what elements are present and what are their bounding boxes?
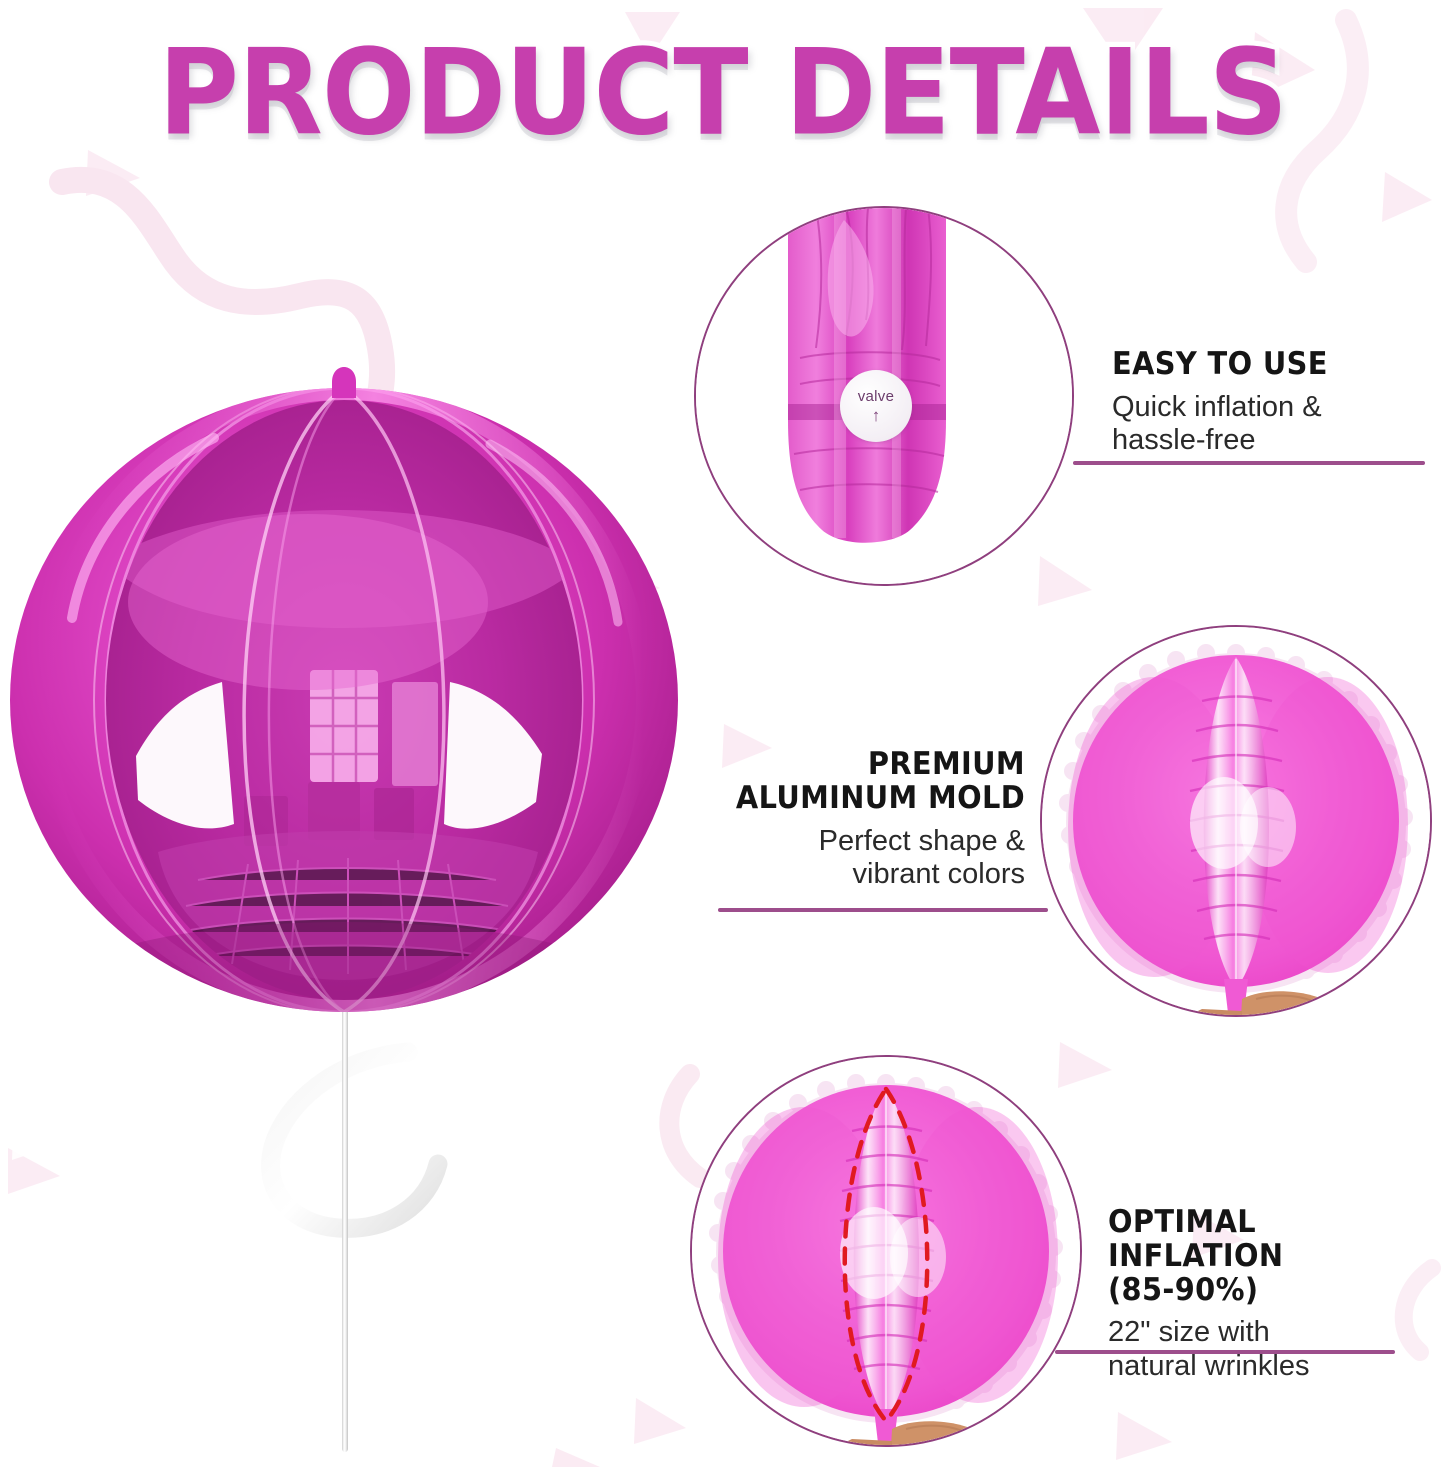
triangle-icon [1382, 172, 1432, 222]
hero-balloon [8, 352, 680, 1462]
feature-body-line: vibrant colors [853, 858, 1025, 890]
balloon-orb [8, 352, 680, 1042]
feature-body-line: Perfect shape & [819, 825, 1025, 857]
callout-uninflated-balloon [1040, 625, 1432, 1017]
page-title-wrap: PRODUCT DETAILS [0, 34, 1445, 140]
triangle-icon [1038, 556, 1092, 606]
reflection-glow [128, 514, 488, 690]
feature-rule-easy-to-use [1073, 461, 1425, 465]
feature-text-premium-aluminum-mold: PREMIUM ALUMINUM MOLD Perfect shape & vi… [695, 748, 1025, 892]
callout-valve-closeup: valve ↑ [694, 206, 1074, 586]
specular-highlight [890, 1217, 946, 1297]
feature-heading-line: PREMIUM [868, 746, 1025, 782]
feature-heading-line: ALUMINUM MOLD [736, 780, 1025, 816]
feature-heading: OPTIMAL INFLATION (85-90%) [1108, 1206, 1420, 1307]
valve-sticker-label: valve [858, 388, 895, 405]
feature-body: Quick inflation & hassle-free [1112, 391, 1442, 458]
valve-sticker: valve ↑ [840, 370, 912, 442]
valve-sticker-arrow-icon: ↑ [872, 407, 881, 424]
inflation-level-photo [692, 1057, 1080, 1445]
specular-highlight [1240, 787, 1296, 867]
feature-body: Perfect shape & vibrant colors [695, 825, 1025, 892]
feature-body-line: natural wrinkles [1108, 1350, 1309, 1382]
feature-heading-line: (85-90%) [1108, 1272, 1258, 1308]
feature-heading: PREMIUM ALUMINUM MOLD [718, 748, 1025, 816]
feature-body: 22" size with natural wrinkles [1108, 1316, 1444, 1383]
triangle-icon [1058, 1042, 1112, 1088]
reflection-window [392, 682, 438, 786]
feature-rule-premium-aluminum-mold [718, 908, 1048, 912]
feature-body-line: hassle-free [1112, 424, 1255, 456]
feature-body-line: Quick inflation & [1112, 391, 1322, 423]
feature-heading-line: OPTIMAL INFLATION [1108, 1204, 1283, 1274]
feature-text-easy-to-use: EASY TO USE Quick inflation & hassle-fre… [1112, 348, 1442, 458]
balloon-hook-icon [332, 367, 356, 398]
page-title: PRODUCT DETAILS [158, 34, 1287, 153]
triangle-icon [1116, 1412, 1172, 1460]
feature-body-line: 22" size with [1108, 1316, 1270, 1348]
triangle-icon [86, 150, 140, 196]
feature-text-optimal-inflation: OPTIMAL INFLATION (85-90%) 22" size with… [1108, 1206, 1444, 1384]
uninflated-balloon-photo [1042, 627, 1430, 1015]
callout-inflation-level [690, 1055, 1082, 1447]
ribbon-curl [271, 1052, 438, 1228]
feature-heading: EASY TO USE [1112, 348, 1419, 382]
